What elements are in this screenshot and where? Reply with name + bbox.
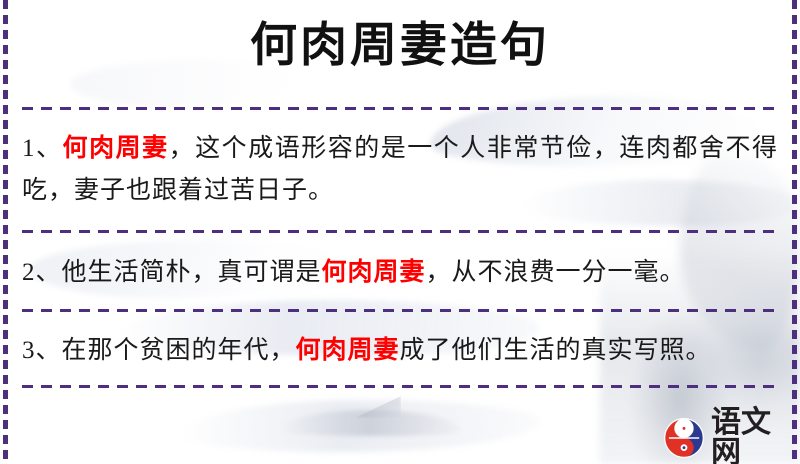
- idiom-highlight: 何肉周妻: [322, 259, 426, 286]
- logo-text: 语文网: [711, 408, 800, 464]
- idiom-highlight: 何肉周妻: [63, 135, 169, 162]
- list-item: 3、在那个贫困的年代，何肉周妻成了他们生活的真实写照。: [22, 330, 778, 372]
- sentence-number: 2、: [22, 259, 62, 286]
- sentence-number: 1、: [22, 135, 63, 162]
- site-logo[interactable]: 语文网: [663, 408, 800, 464]
- sentence-list: 1、何肉周妻，这个成语形容的是一个人非常节俭，连肉都舍不得吃，妻子也跟着过苦日子…: [0, 0, 800, 464]
- idiom-highlight: 何肉周妻: [296, 337, 400, 364]
- sentence-text-after: ，从不浪费一分一毫。: [426, 259, 686, 286]
- slide-page: 何肉周妻造句 1、何肉周妻，这个成语形容的是一个人非常节俭，连肉都舍不得吃，妻子…: [0, 0, 800, 464]
- sentence-number: 3、: [22, 337, 62, 364]
- yin-yang-fish-logo-icon: [663, 417, 705, 459]
- list-item: 2、他生活简朴，真可谓是何肉周妻，从不浪费一分一毫。: [22, 252, 778, 294]
- sentence-text-before: 他生活简朴，真可谓是: [62, 259, 322, 286]
- list-item: 1、何肉周妻，这个成语形容的是一个人非常节俭，连肉都舍不得吃，妻子也跟着过苦日子…: [22, 128, 778, 212]
- sentence-text-after: 成了他们生活的真实写照。: [400, 337, 712, 364]
- sentence-text-before: 在那个贫困的年代，: [62, 337, 296, 364]
